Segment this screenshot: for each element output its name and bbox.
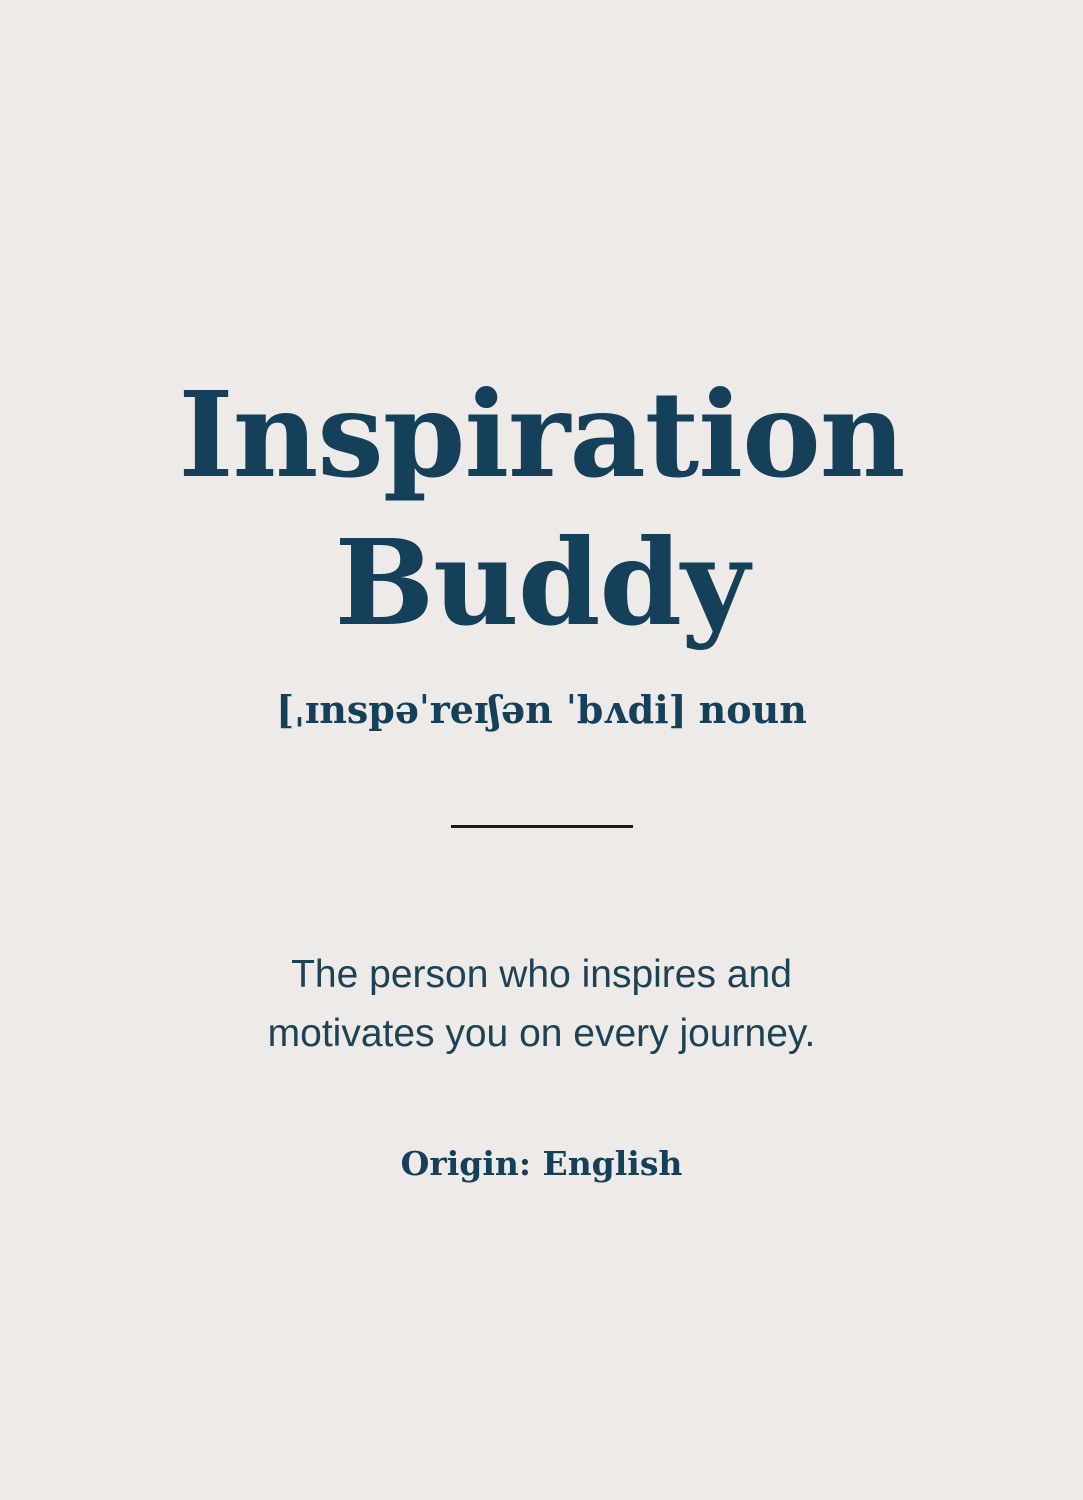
pronunciation-line: [ˌɪnspəˈreɪʃən ˈbʌdi]noun <box>0 687 1083 733</box>
headword-title: Inspiration Buddy <box>0 361 1083 656</box>
divider-container <box>0 825 1083 828</box>
part-of-speech: noun <box>699 687 807 732</box>
origin-label: Origin: English <box>0 1144 1083 1184</box>
definition-text: The person who inspires and motivates yo… <box>0 945 1083 1064</box>
definition-card: Inspiration Buddy [ˌɪnspəˈreɪʃən ˈbʌdi]n… <box>0 0 1083 1500</box>
ipa-transcription: [ˌɪnspəˈreɪʃən ˈbʌdi] <box>276 687 687 732</box>
horizontal-rule-divider <box>451 825 633 828</box>
